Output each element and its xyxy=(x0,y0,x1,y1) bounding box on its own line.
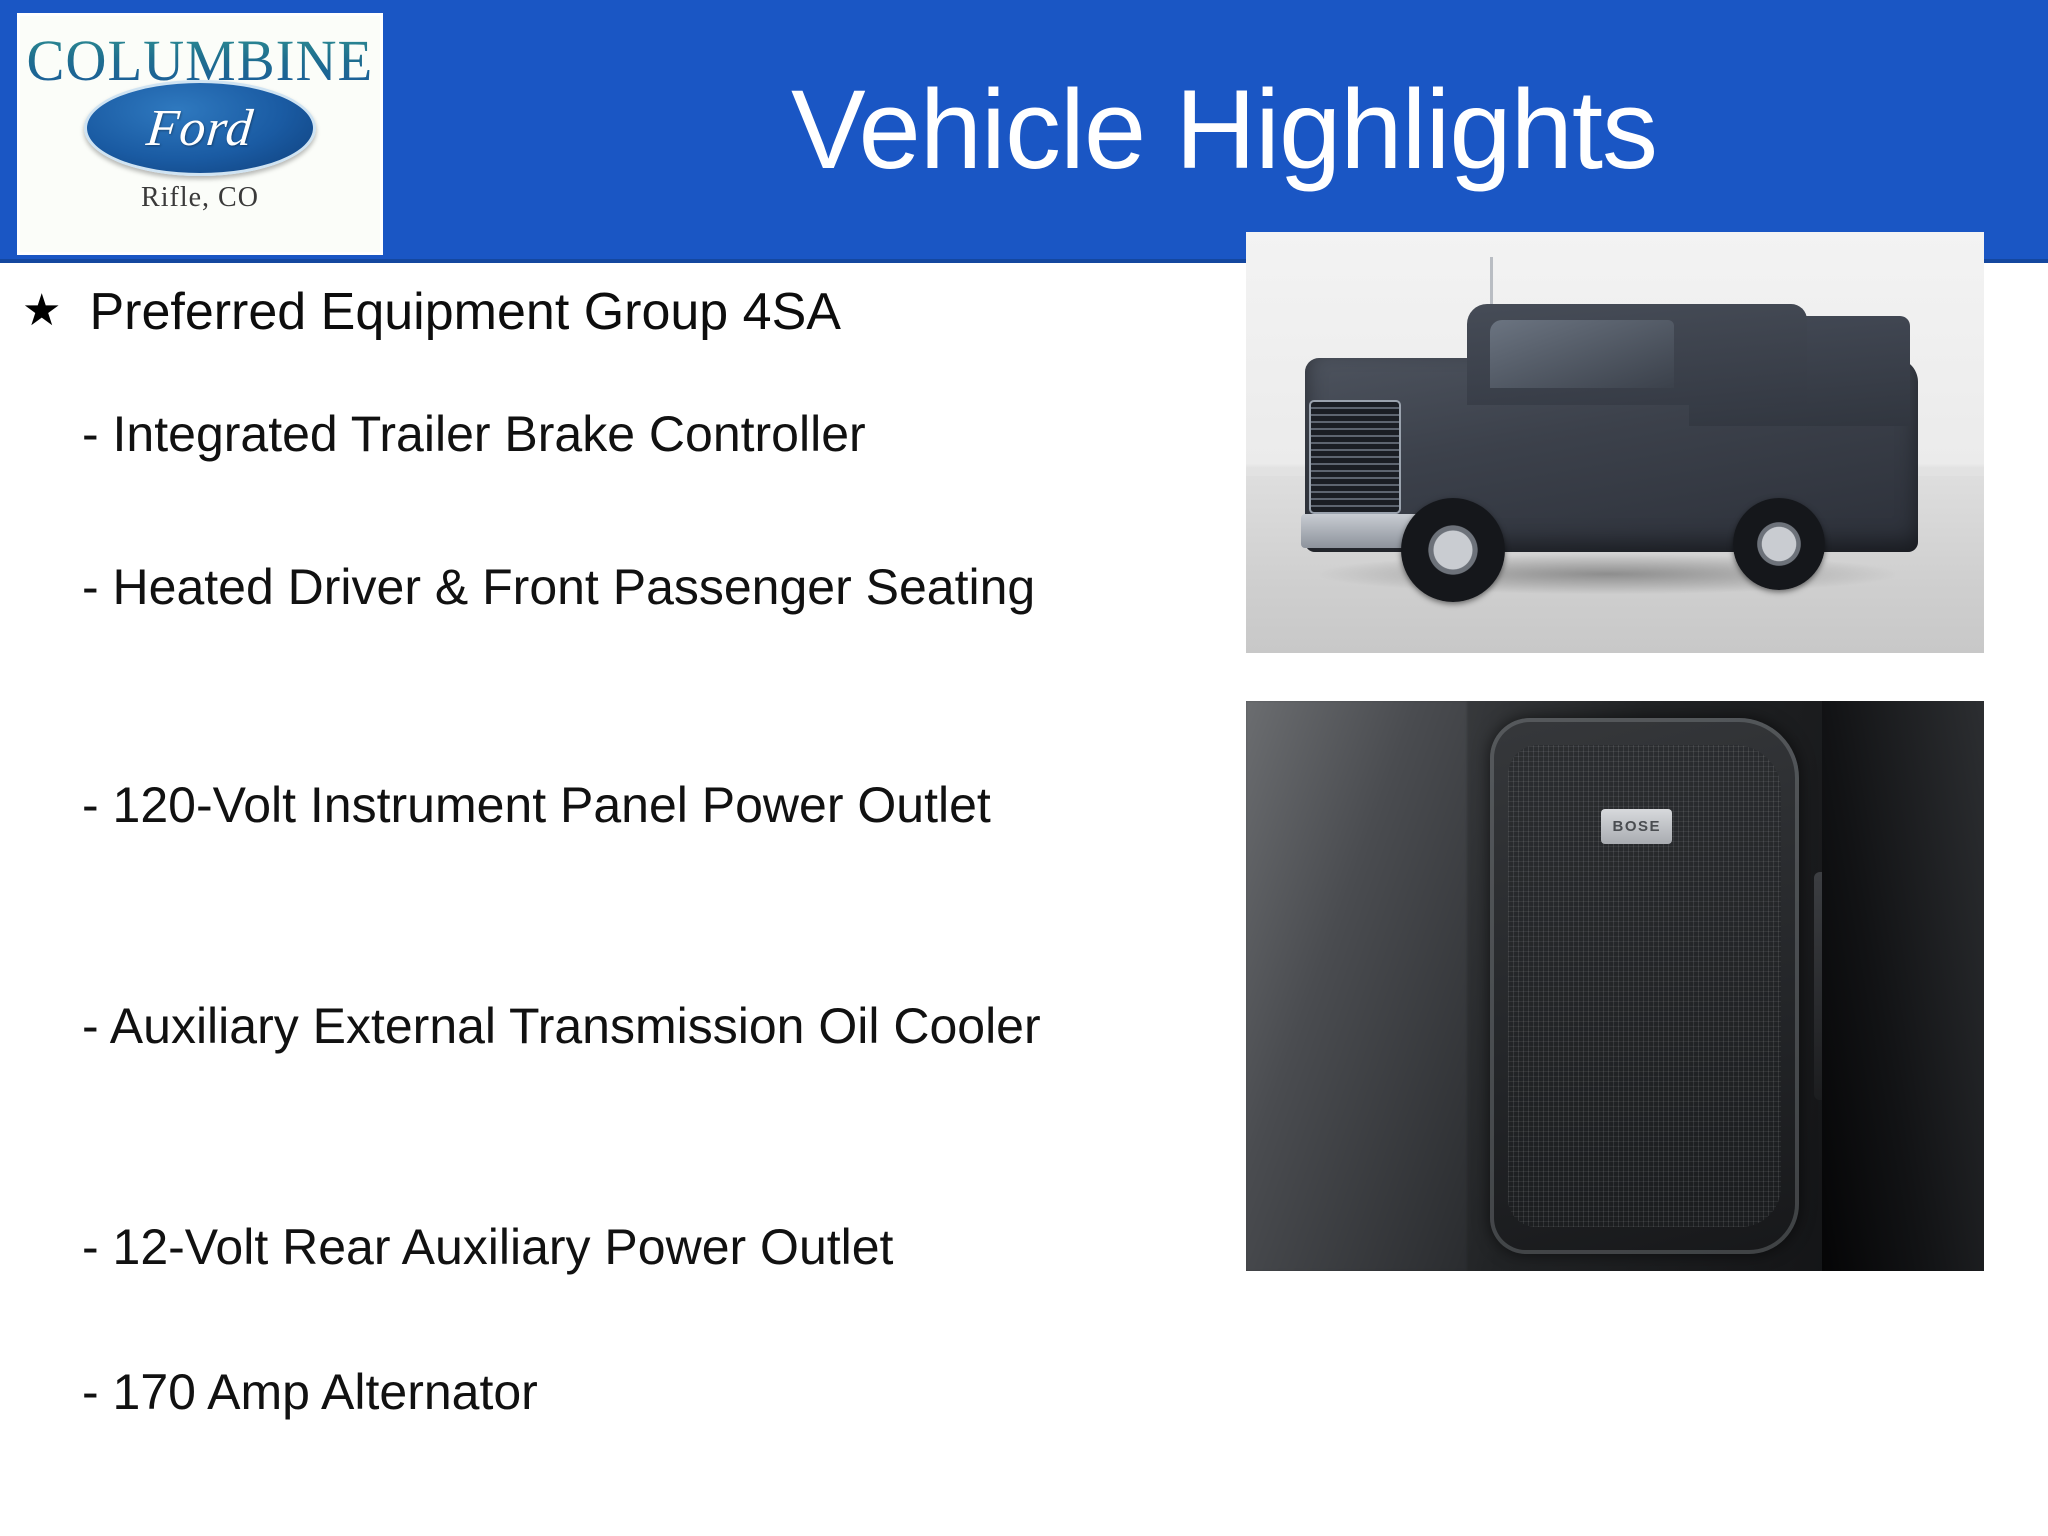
header-bar: COLUMBINE Ford Rifle, CO Vehicle Highlig… xyxy=(0,0,2048,263)
door-edge xyxy=(1822,701,1984,1271)
slide-body: ★ Preferred Equipment Group 4SA - Integr… xyxy=(0,263,2048,1536)
highlights-heading: ★ Preferred Equipment Group 4SA xyxy=(22,283,841,341)
windshield xyxy=(1490,320,1675,387)
page-title: Vehicle Highlights xyxy=(400,0,2048,259)
dealer-name-text: COLUMBINE xyxy=(27,32,374,90)
list-item: - 120-Volt Instrument Panel Power Outlet xyxy=(82,776,1092,835)
front-wheel xyxy=(1401,498,1505,602)
list-item: - 170 Amp Alternator xyxy=(82,1363,1092,1422)
ford-brand-text: Ford xyxy=(144,99,256,158)
highlights-heading-label: Preferred Equipment Group 4SA xyxy=(89,283,841,341)
studio-backdrop xyxy=(1246,232,1984,653)
star-icon: ★ xyxy=(22,283,61,338)
list-item: - Integrated Trailer Brake Controller xyxy=(82,405,1092,464)
rear-wheel xyxy=(1733,498,1825,590)
bose-badge: BOSE xyxy=(1601,809,1672,844)
dealer-logo: COLUMBINE Ford Rifle, CO xyxy=(17,13,383,255)
list-item: - Heated Driver & Front Passenger Seatin… xyxy=(82,558,1092,617)
ford-oval-icon: Ford xyxy=(84,80,316,176)
highlights-list: ★ Preferred Equipment Group 4SA - Integr… xyxy=(0,263,1180,1536)
list-item: - 12-Volt Rear Auxiliary Power Outlet xyxy=(82,1218,1092,1277)
interior-speaker-photo: BOSE xyxy=(1246,701,1984,1271)
list-item: - Auxiliary External Transmission Oil Co… xyxy=(82,997,1092,1056)
dealer-location-text: Rifle, CO xyxy=(141,182,259,214)
door-panel-backdrop: BOSE xyxy=(1246,701,1984,1271)
vehicle-exterior-photo xyxy=(1246,232,1984,653)
speaker-housing: BOSE xyxy=(1490,718,1800,1254)
door-pillar xyxy=(1246,701,1467,1271)
front-grille xyxy=(1309,400,1402,513)
